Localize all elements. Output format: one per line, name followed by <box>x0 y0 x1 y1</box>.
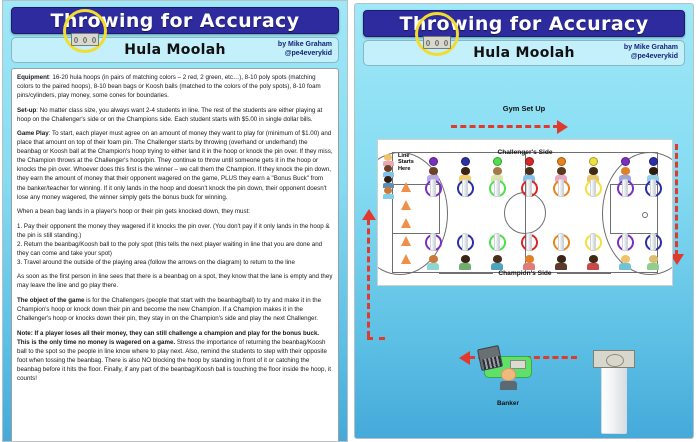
slide-header-right: Throwing for Accuracy Hula Moolah by Mik… <box>363 10 685 66</box>
student-avatar <box>647 255 660 270</box>
byline: by Mike Graham @pe4everykid <box>624 43 678 62</box>
court-center-circle <box>504 192 546 234</box>
student-avatar <box>491 255 504 270</box>
foam-pin <box>622 233 628 251</box>
student-avatar <box>382 165 394 176</box>
play-column <box>640 157 666 197</box>
hula-hoop <box>457 234 474 251</box>
rules-list: 1. Pay their opponent the money they wag… <box>17 222 333 267</box>
play-column <box>484 236 510 270</box>
cone-icon <box>401 254 411 264</box>
arrow-right-dashed-icon <box>451 121 576 133</box>
foam-pin <box>558 233 564 251</box>
subtitle-bar: Hula Moolah by Mike Graham @pe4everykid <box>363 40 685 66</box>
play-column <box>420 236 446 270</box>
student-avatar <box>382 176 394 187</box>
paragraph-gameplay: Game Play: To start, each player must ag… <box>17 129 333 201</box>
paragraph-setup: Set-up: No matter class size, you always… <box>17 106 333 124</box>
student-avatar <box>523 255 536 270</box>
hula-hoop <box>645 234 662 251</box>
equipment-label: Equipment <box>17 74 49 81</box>
banker-station: Banker <box>473 356 543 407</box>
money-pedestal <box>601 362 627 434</box>
play-column <box>516 157 542 197</box>
hula-hoop <box>521 180 538 197</box>
equipment-text: : 16-20 hula hoops (in pairs of matching… <box>17 74 321 99</box>
slide-deck: Throwing for Accuracy Hula Moolah by Mik… <box>0 0 696 442</box>
student-avatar <box>619 255 632 270</box>
foam-pin <box>650 179 656 197</box>
play-column <box>548 236 574 270</box>
student-avatar <box>427 255 440 270</box>
paragraph-object: The object of the game is for the Challe… <box>17 296 333 323</box>
student-avatar <box>459 255 472 270</box>
byline-handle: @pe4everykid <box>624 52 678 61</box>
paragraph-equipment: Equipment: 16-20 hula hoops (in pairs of… <box>17 73 333 100</box>
play-column <box>420 157 446 197</box>
subtitle-bar: Hula Moolah by Mike Graham @pe4everykid <box>11 37 339 63</box>
foam-pin <box>494 233 500 251</box>
poly-spot <box>649 157 658 166</box>
title-bar: Throwing for Accuracy <box>363 10 685 37</box>
poly-spot <box>461 157 470 166</box>
challengers-side-label: Challenger's Side <box>378 149 672 156</box>
object-label: The object of the game <box>17 297 84 304</box>
dollar-bill-icon <box>423 36 451 49</box>
arrow-left-dashed-icon <box>459 351 470 365</box>
activity-name: Hula Moolah <box>124 42 226 58</box>
setup-text: : No matter class size, you always want … <box>17 107 322 123</box>
instructions-card: Equipment: 16-20 hula hoops (in pairs of… <box>11 68 339 442</box>
hula-hoop <box>645 180 662 197</box>
hula-hoop <box>489 234 506 251</box>
gameplay-label: Game Play <box>17 130 49 137</box>
list-item: 1. Pay their opponent the money they wag… <box>17 222 333 240</box>
cone-icon <box>401 182 411 192</box>
arrow-up-dashed-icon <box>362 209 376 220</box>
foam-pin <box>590 233 596 251</box>
poly-spot <box>525 157 534 166</box>
foam-pin <box>430 233 436 251</box>
slide-header-left: Throwing for Accuracy Hula Moolah by Mik… <box>11 7 339 63</box>
hula-hoop <box>425 234 442 251</box>
hula-hoop <box>553 180 570 197</box>
page-title: Throwing for Accuracy <box>399 13 648 35</box>
play-column <box>516 236 542 270</box>
paragraph-rules-intro: When a bean bag lands in a player's hoop… <box>17 207 333 216</box>
poly-spot <box>429 157 438 166</box>
cone-icon <box>401 236 411 246</box>
basket-mark-right <box>642 212 648 218</box>
cone-icon <box>401 200 411 210</box>
student-avatar <box>382 187 394 198</box>
byline-handle: @pe4everykid <box>278 49 332 58</box>
hula-hoop <box>457 180 474 197</box>
byline-author: by Mike Graham <box>624 43 678 52</box>
line-starts-here-label: Line Starts Here <box>398 153 414 172</box>
play-column <box>452 236 478 270</box>
play-column <box>580 236 606 270</box>
gameplay-text: : To start, each player must agree on an… <box>17 130 333 200</box>
hula-hoop <box>425 180 442 197</box>
title-bar: Throwing for Accuracy <box>11 7 339 34</box>
paragraph-note: Note: If a player loses all their money,… <box>17 329 333 383</box>
play-column <box>484 157 510 197</box>
hula-hoop <box>617 180 634 197</box>
hula-hoop <box>553 234 570 251</box>
poly-spot <box>589 157 598 166</box>
banker-avatar <box>500 368 517 390</box>
play-column <box>640 236 666 270</box>
hula-hoop <box>489 180 506 197</box>
student-avatar <box>555 255 568 270</box>
page-title: Throwing for Accuracy <box>50 10 299 32</box>
foam-pin <box>462 179 468 197</box>
foam-pin <box>526 233 532 251</box>
gym-setup-label: Gym Set Up <box>355 104 693 113</box>
poly-spot <box>493 157 502 166</box>
path-bottom-dashed <box>367 337 385 340</box>
hula-hoop <box>617 234 634 251</box>
play-column <box>452 157 478 197</box>
foam-pin <box>622 179 628 197</box>
foam-pin <box>526 179 532 197</box>
list-item: 3. Travel around the outside of the play… <box>17 258 333 267</box>
foam-pin <box>590 179 596 197</box>
activity-name: Hula Moolah <box>473 45 575 61</box>
play-column <box>612 236 638 270</box>
hula-hoop <box>585 234 602 251</box>
byline: by Mike Graham @pe4everykid <box>278 40 332 59</box>
student-avatar <box>382 154 394 165</box>
student-avatar <box>587 255 600 270</box>
poly-spot <box>621 157 630 166</box>
cone-icon <box>401 218 411 228</box>
foam-pin <box>462 233 468 251</box>
dollar-bill-icon <box>593 350 635 368</box>
hula-hoop <box>585 180 602 197</box>
slide-diagram: Throwing for Accuracy Hula Moolah by Mik… <box>354 3 694 439</box>
champions-side-label: Champion's Side <box>378 270 672 277</box>
gym-court-diagram: Challenger's Side Champion's Side Line S… <box>377 139 673 286</box>
foam-pin <box>650 233 656 251</box>
foam-pin <box>558 179 564 197</box>
slide-instructions: Throwing for Accuracy Hula Moolah by Mik… <box>2 0 348 442</box>
banker-label: Banker <box>473 400 543 407</box>
byline-author: by Mike Graham <box>278 40 332 49</box>
foam-pin <box>494 179 500 197</box>
hula-hoop <box>521 234 538 251</box>
path-left-dashed <box>367 219 370 337</box>
foam-pin <box>430 179 436 197</box>
waiting-line <box>382 154 394 198</box>
play-column <box>548 157 574 197</box>
list-item: 2. Return the beanbag/Koosh ball to the … <box>17 240 333 258</box>
paragraph-lane-note: As soon as the first person in line sees… <box>17 272 333 290</box>
poly-spot <box>557 157 566 166</box>
dollar-bill-icon <box>71 33 99 46</box>
play-column <box>612 157 638 197</box>
play-column <box>580 157 606 197</box>
setup-label: Set-up <box>17 107 36 114</box>
path-right-dashed <box>675 144 678 256</box>
